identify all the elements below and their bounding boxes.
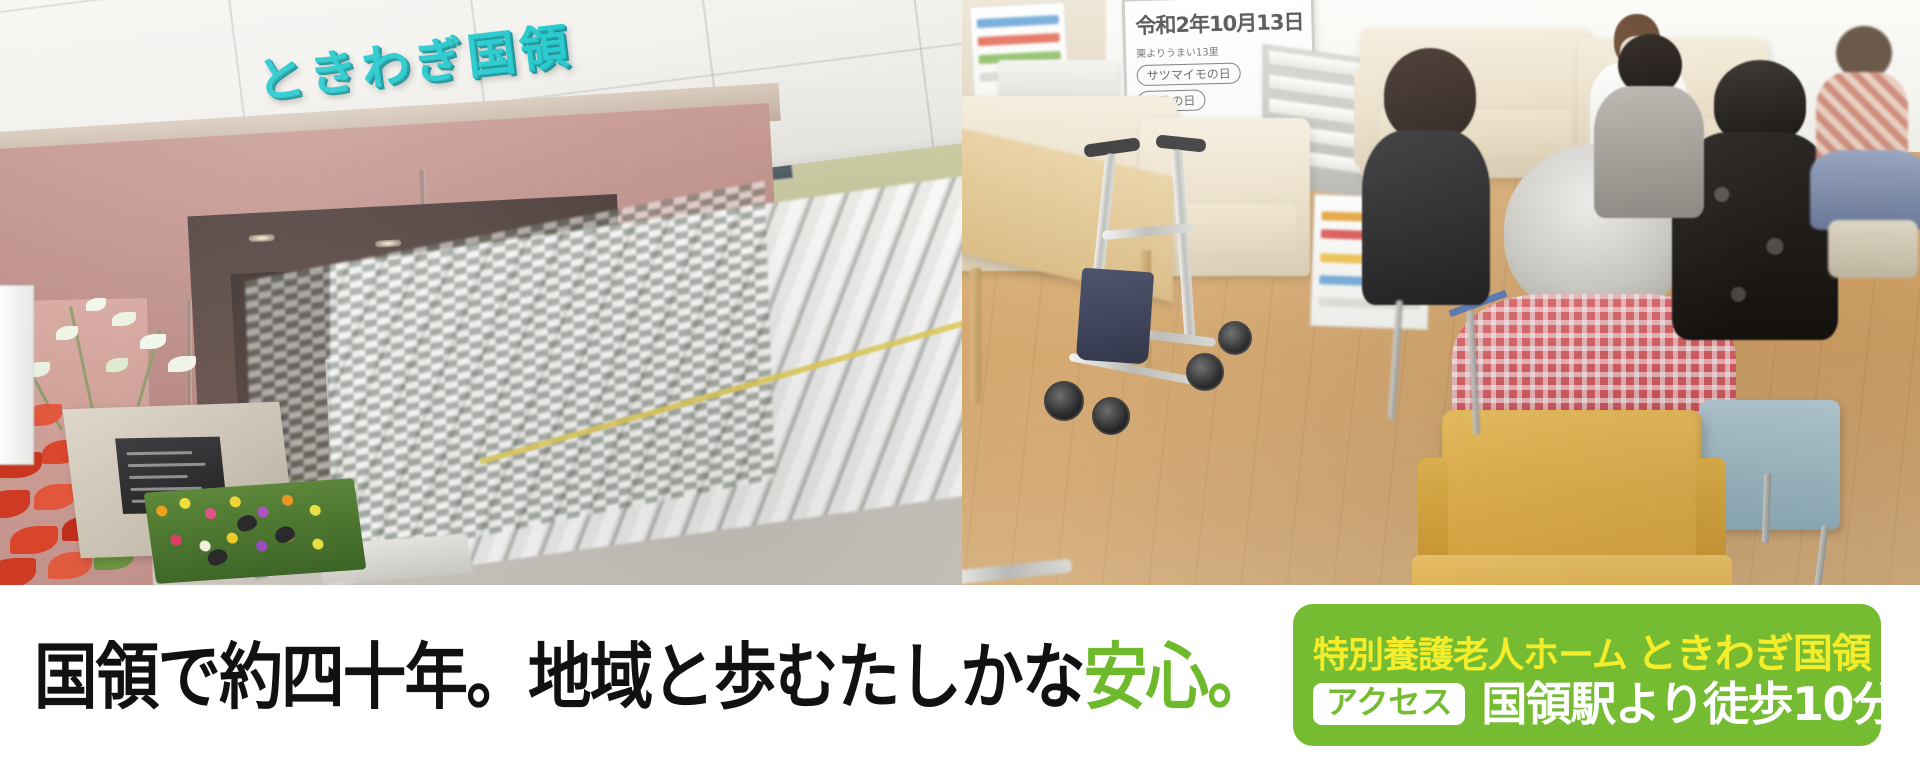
access-label-pill: アクセス [1313, 683, 1465, 725]
facility-exterior-photo[interactable]: ときわぎ国領 [0, 0, 962, 585]
facility-type-label: 特別養護老人ホーム [1313, 626, 1627, 678]
white-post [0, 285, 34, 465]
resident-grey-cardigan [1588, 34, 1708, 224]
badge-access-line: アクセス 国領駅より徒歩10分 [1313, 681, 1867, 727]
flowerbed [144, 478, 367, 584]
access-badge[interactable]: 特別養護老人ホーム ときわぎ国領 アクセス 国領駅より徒歩10分 [1293, 604, 1881, 746]
dayroom-activity-photo[interactable]: 令和2年10月13日 栗よりうまい13里 サツマイモの日 麻酔の日 [962, 0, 1920, 585]
walker-basket [1076, 268, 1154, 365]
rollator-walker [1074, 135, 1259, 435]
whiteboard-topic-1: サツマイモの日 [1136, 62, 1241, 86]
wooden-armchair [1442, 410, 1702, 585]
access-description: 国領駅より徒歩10分 [1481, 681, 1897, 727]
hero-banner: ときわぎ国領 [0, 0, 1920, 768]
badge-title-line: 特別養護老人ホーム ときわぎ国領 [1313, 621, 1867, 679]
facility-name-label: ときわぎ国領 [1637, 621, 1871, 679]
photo-band: ときわぎ国領 [0, 0, 1920, 585]
whiteboard-date: 令和2年10月13日 [1135, 6, 1302, 40]
headline: 国領で約四十年。地域と歩むたしかな安心。 [34, 641, 1269, 713]
resident-far-right-2 [1810, 150, 1920, 280]
headline-accent-text: 安心。 [1084, 635, 1269, 719]
headline-main-text: 国領で約四十年。地域と歩むたしかな [34, 635, 1084, 719]
table-leg [970, 268, 981, 403]
